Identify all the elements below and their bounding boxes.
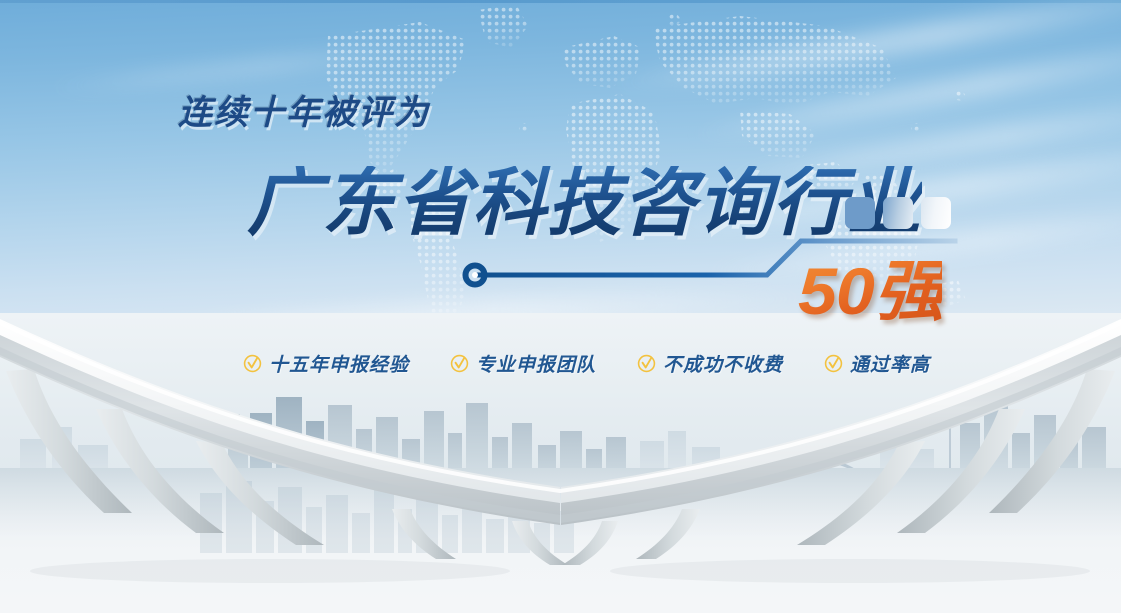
decor-square-3 xyxy=(921,197,951,229)
decor-square-1 xyxy=(845,197,875,229)
kicker-text: 连续十年被评为 xyxy=(178,85,430,134)
feature-label: 通过率高 xyxy=(850,350,930,377)
decor-squares xyxy=(845,197,951,229)
feature-list: 十五年申报经验 专业申报团队 不成功不收费 xyxy=(243,350,930,377)
feature-label: 不成功不收费 xyxy=(663,350,783,377)
feature-label: 十五年申报经验 xyxy=(269,350,409,377)
check-circle-icon xyxy=(637,354,656,373)
check-circle-icon xyxy=(824,354,843,373)
promo-banner: 连续十年被评为 广东省科技咨询行业 50强 xyxy=(0,0,1121,613)
decor-square-2 xyxy=(883,197,913,229)
check-circle-icon xyxy=(243,354,262,373)
feature-item: 不成功不收费 xyxy=(637,350,783,377)
rank-badge: 50强 xyxy=(798,258,943,324)
feature-label: 专业申报团队 xyxy=(476,350,596,377)
feature-item: 十五年申报经验 xyxy=(243,350,409,377)
feature-item: 通过率高 xyxy=(824,350,930,377)
feature-item: 专业申报团队 xyxy=(450,350,596,377)
page-title: 广东省科技咨询行业 xyxy=(247,166,922,240)
check-circle-icon xyxy=(450,354,469,373)
